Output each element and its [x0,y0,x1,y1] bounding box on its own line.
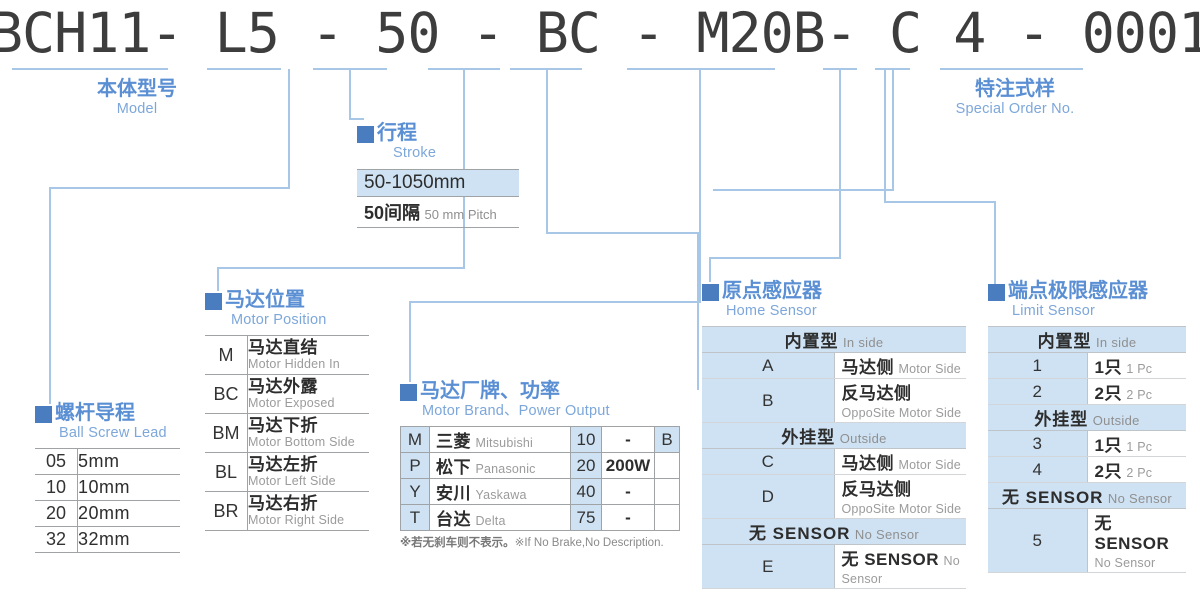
sensor-group-header: 无 SENSOR No Sensor [702,519,966,545]
motor-position-code: BM [213,423,240,443]
sensor-en: 2 Pc [1126,466,1152,480]
power-value: - [625,482,631,501]
part-number-configurator-diagram: BCH11- L5 - 50 - BC - M20B- C 4 - 0001 本… [0,0,1200,570]
table-row[interactable]: 2 2只 2 Pc [988,379,1186,405]
sensor-cn: 2只 [1095,384,1122,403]
power-code: 40 [577,482,596,501]
motor-position-code: BL [215,462,237,482]
brand-cn: 松下 [436,458,471,477]
sensor-code: E [762,557,773,576]
special-order-title-en: Special Order No. [930,101,1100,118]
table-row[interactable]: T 台达 Delta 75 - [401,505,680,531]
table-row[interactable]: D 反马达侧 OppoSite Motor Side [702,475,966,519]
table-row[interactable]: 05 5mm [35,449,180,475]
section-motor-position: 马达位置 Motor Position M 马达直结 Motor Hidden … [205,289,369,531]
brake-cell-empty [655,453,680,479]
motor-position-cn: 马达外露 [248,378,369,396]
sensor-en: Motor Side [898,458,960,472]
table-row[interactable]: M 马达直结 Motor Hidden In [205,336,369,375]
power-value: - [625,508,631,527]
lead-code: 20 [46,503,66,523]
motor-position-title-cn: 马达位置 [225,289,326,312]
sensor-code: C [762,452,774,471]
table-row[interactable]: A 马达侧 Motor Side [702,353,966,379]
lead-code: 32 [46,529,66,549]
stroke-title-en: Stroke [377,145,436,162]
brand-code: Y [409,482,420,501]
sensor-cn: 无 SENSOR [1095,514,1170,553]
motor-position-bullet-icon [205,293,222,310]
special-order-title-cn: 特注式样 [930,78,1100,101]
brand-en: Mitsubishi [475,436,533,450]
lead-value: 5mm [78,451,120,471]
group-cn: 内置型 [1038,332,1092,351]
part-number: BCH11- L5 - 50 - BC - M20B- C 4 - 0001 [0,2,1200,64]
stroke-title-cn: 行程 [377,122,436,145]
group-cn: 外挂型 [1034,410,1088,429]
limit-sensor-title-cn: 端点极限感应器 [1008,280,1148,303]
sensor-cn: 2只 [1095,462,1122,481]
sensor-group-header: 外挂型 Outside [988,405,1186,431]
limit-sensor-title-en: Limit Sensor [1008,303,1148,320]
group-cn: 无 SENSOR [749,524,851,543]
sensor-code: 2 [1033,382,1042,401]
brand-en: Panasonic [475,462,535,476]
lead-code: 10 [46,477,66,497]
lead-value: 10mm [78,477,130,497]
motor-brand-note-cn: ※若无刹车则不表示。 [400,537,515,549]
brand-en: Delta [475,514,505,528]
brand-en: Yaskawa [475,488,526,502]
sensor-group-header: 内置型 In side [702,327,966,353]
motor-brand-note: ※若无刹车则不表示。※If No Brake,No Description. [400,534,680,550]
sensor-en: OppoSite Motor Side [842,406,962,420]
sensor-en: No Sensor [1095,556,1156,570]
motor-position-en: Motor Exposed [248,396,369,410]
table-row[interactable]: BC 马达外露 Motor Exposed [205,375,369,414]
section-limit-sensor: 端点极限感应器 Limit Sensor 内置型 In side 1 1只 1 … [988,280,1186,573]
ball-screw-lead-table: 05 5mm 10 10mm 20 20mm 32 32mm [35,448,180,553]
sensor-group-header: 外挂型 Outside [702,423,966,449]
limit-sensor-bullet-icon [988,284,1005,301]
motor-brand-title-cn: 马达厂牌、功率 [420,380,610,403]
ball-screw-lead-title-cn: 螺杆导程 [55,402,167,425]
motor-position-code: BC [213,384,238,404]
model-title-en: Model [52,101,222,118]
sensor-group-header: 内置型 In side [988,327,1186,353]
sensor-cn: 1只 [1095,436,1122,455]
table-row[interactable]: 3 1只 1 Pc [988,431,1186,457]
table-row[interactable]: 5 无 SENSOR No Sensor [988,509,1186,573]
table-row[interactable]: E 无 SENSOR No Sensor [702,545,966,589]
table-row[interactable]: 20 20mm [35,501,180,527]
sensor-cn: 1只 [1095,358,1122,377]
group-en: No Sensor [855,527,919,542]
sensor-code: 1 [1033,356,1042,375]
table-row[interactable]: 1 1只 1 Pc [988,353,1186,379]
section-special-order: 特注式样 Special Order No. [930,78,1100,118]
sensor-cn: 反马达侧 [842,480,912,499]
motor-position-en: Motor Left Side [248,474,369,488]
sensor-group-header: 无 SENSOR No Sensor [988,483,1186,509]
brake-cell-empty [655,479,680,505]
group-en: In side [1096,335,1136,350]
brake-cell-empty [655,505,680,531]
group-en: Outside [1093,413,1140,428]
model-title-cn: 本体型号 [52,78,222,101]
sensor-en: 2 Pc [1126,388,1152,402]
motor-brand-title-en: Motor Brand、Power Output [420,403,610,420]
stroke-table: 50-1050mm 50间隔 50 mm Pitch [357,169,519,228]
motor-position-en: Motor Bottom Side [248,435,369,449]
group-cn: 无 SENSOR [1002,488,1104,507]
section-ball-screw-lead: 螺杆导程 Ball Screw Lead 05 5mm 10 10mm 20 2… [35,402,180,553]
motor-position-cn: 马达下折 [248,417,369,435]
home-sensor-title-cn: 原点感应器 [722,280,822,303]
home-sensor-title-en: Home Sensor [722,303,822,320]
group-en: In side [843,335,883,350]
section-home-sensor: 原点感应器 Home Sensor 内置型 In side A 马达侧 Moto… [702,280,966,589]
motor-position-en: Motor Right Side [248,513,369,527]
stroke-pitch-en: 50 mm Pitch [424,207,496,222]
home-sensor-table: 内置型 In side A 马达侧 Motor Side B 反马达侧 Oppo… [702,326,966,589]
brand-cn: 台达 [436,510,471,529]
sensor-cn: 无 SENSOR [842,550,940,569]
section-model: 本体型号 Model [52,78,222,118]
group-cn: 内置型 [785,332,839,351]
lead-value: 20mm [78,503,130,523]
brand-cn: 三菱 [436,432,471,451]
group-cn: 外挂型 [781,428,835,447]
sensor-cn: 反马达侧 [842,384,912,403]
stroke-row-pitch[interactable]: 50间隔 50 mm Pitch [357,197,519,228]
stroke-pitch-cn: 50间隔 [364,203,420,223]
table-row[interactable]: 10 10mm [35,475,180,501]
stroke-range: 50-1050mm [364,172,465,193]
group-en: Outside [840,431,887,446]
section-motor-brand: 马达厂牌、功率 Motor Brand、Power Output M 三菱 Mi… [400,380,680,550]
sensor-en: 1 Pc [1126,362,1152,376]
motor-position-cn: 马达右折 [248,495,369,513]
motor-position-title-en: Motor Position [225,312,326,329]
sensor-code: B [762,391,773,410]
brand-code: P [409,456,420,475]
power-code: 20 [577,456,596,475]
table-row[interactable]: BL 马达左折 Motor Left Side [205,453,369,492]
group-en: No Sensor [1108,491,1172,506]
power-code: 75 [577,508,596,527]
ball-screw-lead-title-en: Ball Screw Lead [55,425,167,442]
table-row[interactable]: B 反马达侧 OppoSite Motor Side [702,379,966,423]
motor-brand-table: M 三菱 Mitsubishi 10 - B P 松下 Panasonic 20… [400,426,680,531]
motor-position-code: BR [213,501,238,521]
sensor-code: D [762,487,774,506]
sensor-en: Motor Side [898,362,960,376]
sensor-cn: 马达侧 [842,454,895,473]
limit-sensor-table: 内置型 In side 1 1只 1 Pc 2 2只 2 Pc [988,326,1186,573]
table-row[interactable]: C 马达侧 Motor Side [702,449,966,475]
table-row[interactable]: 32 32mm [35,527,180,553]
power-value: 200W [606,456,650,475]
sensor-code: 4 [1033,460,1042,479]
table-row[interactable]: 4 2只 2 Pc [988,457,1186,483]
brand-cn: 安川 [436,484,471,503]
brand-code: M [408,430,422,449]
motor-position-cn: 马达直结 [248,339,369,357]
power-code: 10 [577,430,596,449]
motor-position-cn: 马达左折 [248,456,369,474]
sensor-code: 5 [1033,531,1042,550]
sensor-cn: 马达侧 [842,358,895,377]
stroke-bullet-icon [357,126,374,143]
ball-screw-lead-bullet-icon [35,406,52,423]
stroke-row-range[interactable]: 50-1050mm [357,170,519,197]
motor-position-en: Motor Hidden In [248,357,369,371]
sensor-code: A [762,356,773,375]
motor-brand-bullet-icon [400,384,417,401]
sensor-en: OppoSite Motor Side [842,502,962,516]
brand-code: T [410,508,420,527]
home-sensor-bullet-icon [702,284,719,301]
sensor-code: 3 [1033,434,1042,453]
section-stroke: 行程 Stroke 50-1050mm 50间隔 50 mm Pitch [357,122,519,228]
table-row[interactable]: Y 安川 Yaskawa 40 - [401,479,680,505]
motor-brand-note-en: ※If No Brake,No Description. [515,537,664,549]
power-value: - [625,430,631,449]
motor-position-table: M 马达直结 Motor Hidden In BC 马达外露 Motor Exp… [205,335,369,531]
table-row[interactable]: M 三菱 Mitsubishi 10 - B [401,427,680,453]
lead-code: 05 [46,451,66,471]
table-row[interactable]: BR 马达右折 Motor Right Side [205,492,369,531]
table-row[interactable]: BM 马达下折 Motor Bottom Side [205,414,369,453]
lead-value: 32mm [78,529,130,549]
sensor-en: 1 Pc [1126,440,1152,454]
brake-code: B [661,430,672,449]
table-row[interactable]: P 松下 Panasonic 20 200W [401,453,680,479]
part-number-text: BCH11- L5 - 50 - BC - M20B- C 4 - 0001 [0,1,1200,65]
motor-position-code: M [219,345,234,365]
